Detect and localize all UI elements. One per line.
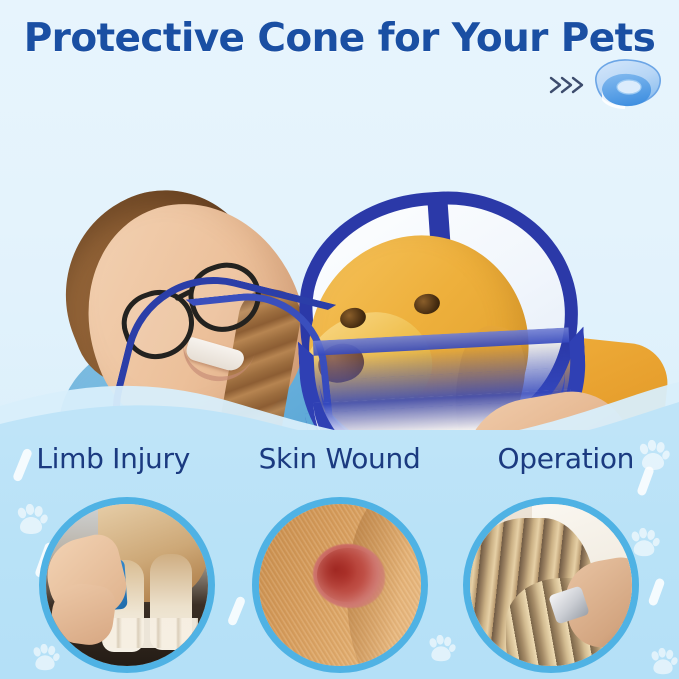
skin-lesion-texture <box>317 548 379 602</box>
use-case-label-operation: Operation <box>453 442 679 475</box>
limb-injury-photo <box>46 504 208 666</box>
page-title: Protective Cone for Your Pets <box>0 16 679 61</box>
chevron-right-triple-icon <box>548 72 590 98</box>
use-case-label-limb-injury: Limb Injury <box>0 442 226 475</box>
skin-wound-photo <box>259 504 421 666</box>
use-case-photo-limb-injury <box>39 497 215 673</box>
operation-photo <box>470 504 632 666</box>
use-case-label-skin-wound: Skin Wound <box>226 442 452 475</box>
use-case-photo-operation <box>463 497 639 673</box>
use-case-labels: Limb Injury Skin Wound Operation <box>0 442 679 475</box>
use-case-photos <box>0 497 679 679</box>
dog-paws <box>102 618 198 648</box>
product-poster: Protective Cone for Your Pets <box>0 0 679 679</box>
use-case-photo-skin-wound <box>252 497 428 673</box>
